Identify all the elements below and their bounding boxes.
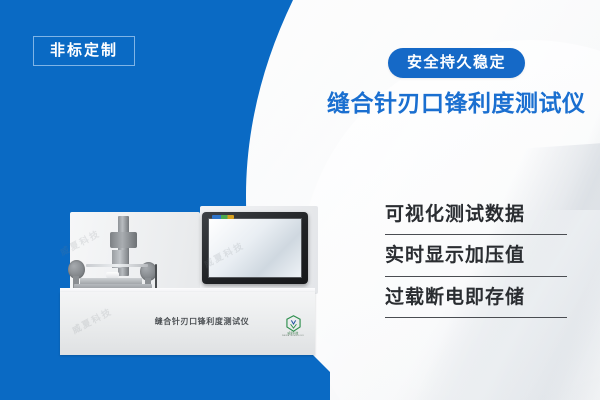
feature-label: 过载断电即存储	[385, 286, 567, 310]
feature-divider	[385, 276, 567, 277]
page-title: 缝合针刃口锋利度测试仪	[327, 92, 586, 115]
list-item: 过载断电即存储	[385, 286, 567, 318]
mechanism-head	[110, 232, 137, 248]
hmi-display[interactable]	[208, 218, 302, 278]
product-photo: 缝合针刃口锋利度测试仪 威夏科技 WEIXIA TECHNOLOGY 威夏科技 …	[52, 196, 342, 376]
feature-label: 可视化测试数据	[385, 203, 567, 227]
hmi-brand-strip	[212, 215, 234, 219]
feature-label: 实时显示加压值	[385, 244, 567, 268]
sensor-cable	[155, 264, 157, 290]
feature-divider	[385, 234, 567, 235]
feature-list: 可视化测试数据 实时显示加压值 过载断电即存储	[385, 203, 567, 327]
machine-base-label: 缝合针刃口锋利度测试仪	[112, 316, 292, 327]
brand-logo-icon: 威夏科技 WEIXIA TECHNOLOGY	[280, 311, 306, 341]
hmi-touchscreen[interactable]	[202, 212, 308, 284]
mechanism-crossbar	[86, 264, 148, 267]
brand-logo-mark	[285, 315, 302, 332]
brand-logo-subtext: WEIXIA TECHNOLOGY	[282, 335, 304, 337]
list-item: 实时显示加压值	[385, 244, 567, 276]
feature-divider	[385, 317, 567, 318]
banner-canvas: 非标定制 安全持久稳定 缝合针刃口锋利度测试仪 可视化测试数据 实时显示加压值 …	[0, 0, 600, 400]
list-item: 可视化测试数据	[385, 203, 567, 235]
stability-pill-badge: 安全持久稳定	[388, 48, 525, 78]
custom-order-tag: 非标定制	[33, 36, 135, 66]
